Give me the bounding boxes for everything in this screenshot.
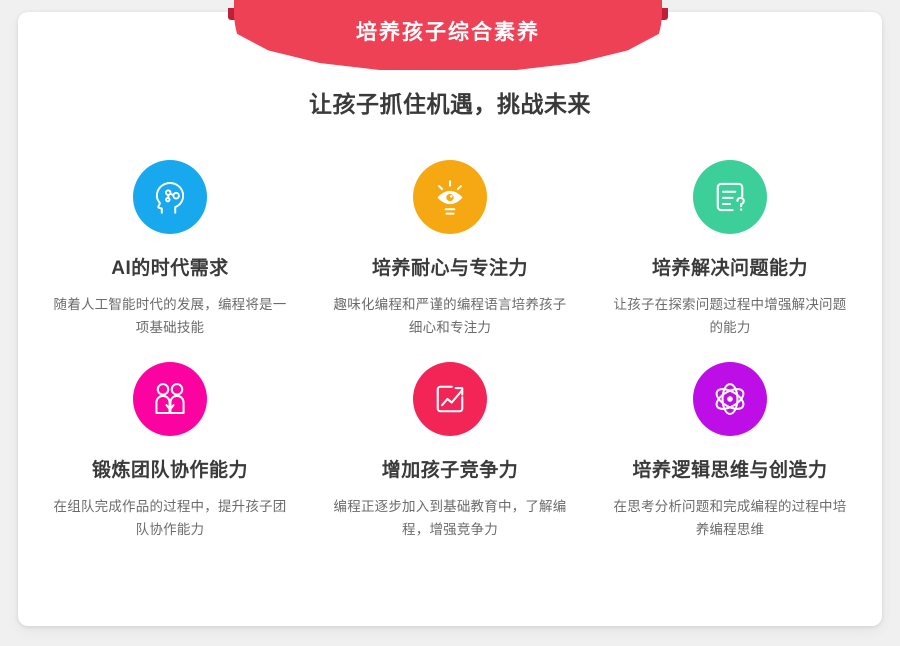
growth-chart-arrow-icon-badge: [413, 362, 487, 436]
feature-title: 培养逻辑思维与创造力: [632, 460, 827, 483]
feature-card[interactable]: 培养逻辑思维与创造力 在思考分析问题和完成编程的过程中培养编程思维: [590, 362, 870, 542]
feature-description: 随着人工智能时代的发展，编程将是一项基础技能: [53, 293, 287, 340]
growth-chart-arrow-icon: [429, 378, 471, 420]
team-people-icon: [149, 378, 191, 420]
ai-head-brain-icon: [149, 176, 191, 218]
feature-description: 在组队完成作品的过程中，提升孩子团队协作能力: [53, 495, 287, 542]
document-question-icon: [709, 176, 751, 218]
feature-title: 培养解决问题能力: [652, 258, 808, 281]
feature-card[interactable]: AI的时代需求 随着人工智能时代的发展，编程将是一项基础技能: [30, 160, 310, 340]
atom-icon-badge: [693, 362, 767, 436]
feature-card[interactable]: 增加孩子竞争力 编程正逐步加入到基础教育中，了解编程，增强竞争力: [310, 362, 590, 542]
lightbulb-eye-icon: [429, 176, 471, 218]
feature-grid: AI的时代需求 随着人工智能时代的发展，编程将是一项基础技能 培养耐心与专注力 …: [30, 160, 870, 564]
feature-description: 在思考分析问题和完成编程的过程中培养编程思维: [613, 495, 847, 542]
document-question-icon-badge: [693, 160, 767, 234]
header-ribbon: 培养孩子综合素养: [228, 0, 668, 72]
feature-title: 锻炼团队协作能力: [92, 460, 248, 483]
ai-head-brain-icon-badge: [133, 160, 207, 234]
lightbulb-eye-icon-badge: [413, 160, 487, 234]
ribbon-body: 培养孩子综合素养: [234, 0, 662, 70]
page-root: 培养孩子综合素养 让孩子抓住机遇，挑战未来 AI的时代需求 随着人工智能时: [0, 0, 900, 646]
feature-card[interactable]: 锻炼团队协作能力 在组队完成作品的过程中，提升孩子团队协作能力: [30, 362, 310, 542]
feature-card[interactable]: 培养耐心与专注力 趣味化编程和严谨的编程语言培养孩子细心和专注力: [310, 160, 590, 340]
feature-description: 趣味化编程和严谨的编程语言培养孩子细心和专注力: [333, 293, 567, 340]
team-people-icon-badge: [133, 362, 207, 436]
banner-title: 培养孩子综合素养: [356, 22, 540, 43]
feature-description: 让孩子在探索问题过程中增强解决问题的能力: [613, 293, 847, 340]
feature-description: 编程正逐步加入到基础教育中，了解编程，增强竞争力: [333, 495, 567, 542]
feature-title: 增加孩子竞争力: [382, 460, 519, 483]
page-subtitle: 让孩子抓住机遇，挑战未来: [0, 90, 900, 120]
feature-card[interactable]: 培养解决问题能力 让孩子在探索问题过程中增强解决问题的能力: [590, 160, 870, 340]
feature-title: 培养耐心与专注力: [372, 258, 528, 281]
atom-icon: [709, 378, 751, 420]
feature-title: AI的时代需求: [111, 258, 229, 281]
